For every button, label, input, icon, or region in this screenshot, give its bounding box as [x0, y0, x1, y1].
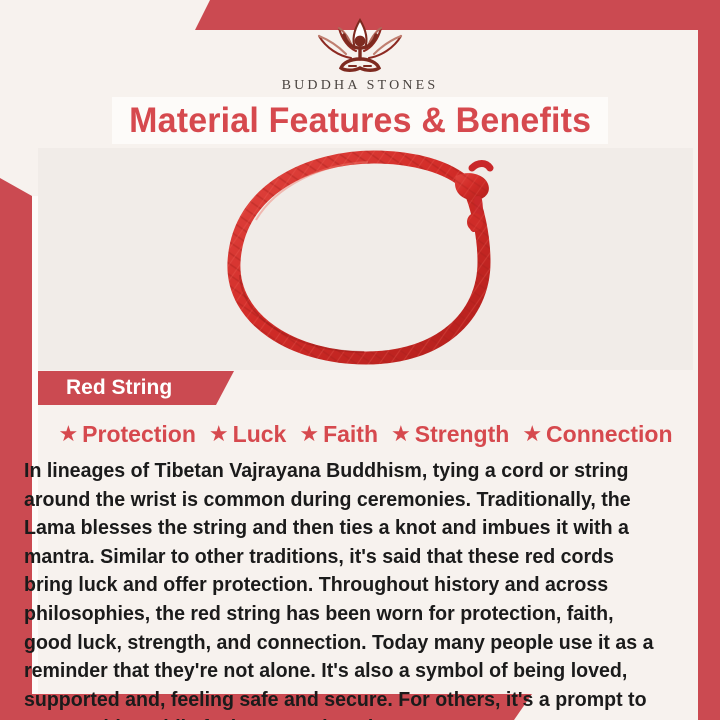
- lotus-meditation-icon: [299, 14, 421, 76]
- benefit-keyword: ★ Connection: [517, 421, 677, 448]
- brand-name: BUDDHA STONES: [0, 78, 720, 94]
- decor-bar-right-gap: [693, 30, 698, 720]
- star-icon: ★: [58, 423, 78, 445]
- benefit-keyword: ★ Faith: [294, 421, 383, 448]
- benefit-keyword: ★ Luck: [204, 421, 291, 448]
- benefit-keyword-label: Connection: [546, 421, 673, 448]
- benefit-keyword-label: Luck: [233, 421, 287, 448]
- brand-logo: BUDDHA STONES: [0, 14, 720, 94]
- red-string-bracelet-image: [216, 150, 516, 368]
- benefit-keyword-label: Faith: [323, 421, 378, 448]
- star-icon: ★: [391, 423, 411, 445]
- product-label-banner: Red String: [38, 371, 234, 405]
- product-description: In lineages of Tibetan Vajrayana Buddhis…: [24, 457, 662, 720]
- page-title-band: Material Features & Benefits: [112, 97, 608, 144]
- benefit-keyword-label: Protection: [82, 421, 196, 448]
- benefit-keyword: ★ Protection: [53, 421, 200, 448]
- page-title: Material Features & Benefits: [129, 101, 591, 141]
- product-label: Red String: [38, 376, 172, 400]
- star-icon: ★: [209, 423, 229, 445]
- product-image-area: [38, 148, 693, 370]
- benefit-keyword-list: ★ Protection ★ Luck ★ Faith ★ Strength ★…: [38, 421, 693, 448]
- star-icon: ★: [299, 423, 319, 445]
- star-icon: ★: [522, 423, 542, 445]
- benefit-keyword-label: Strength: [415, 421, 510, 448]
- benefit-keyword: ★ Strength: [386, 421, 514, 448]
- decor-bar-right: [698, 30, 720, 720]
- product-info-poster: BUDDHA STONES Material Features & Benefi…: [0, 0, 720, 720]
